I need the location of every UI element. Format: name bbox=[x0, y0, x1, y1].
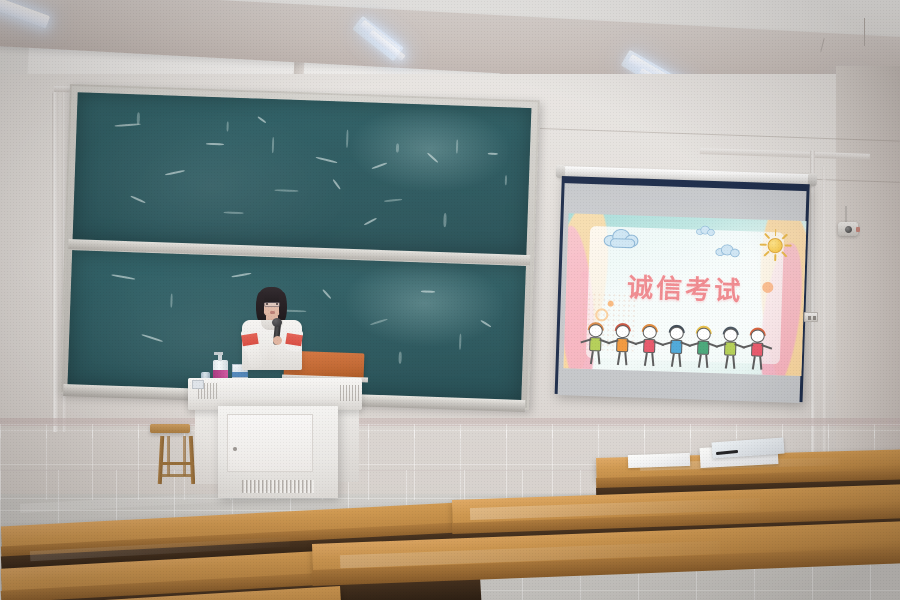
podium-door-lock-icon[interactable] bbox=[233, 447, 237, 451]
conduit-pipe bbox=[52, 92, 58, 432]
podium-speaker-grille bbox=[340, 385, 359, 401]
camera-lens-icon bbox=[845, 226, 852, 233]
sanitizer-nozzle bbox=[214, 352, 223, 355]
paper-sheet[interactable] bbox=[628, 453, 690, 468]
child-figure bbox=[638, 326, 661, 369]
classroom-photo: 诚信考试 bbox=[0, 0, 900, 600]
tissue-box-band bbox=[232, 372, 248, 377]
sun-icon bbox=[759, 230, 790, 261]
projected-slide: 诚信考试 bbox=[563, 213, 806, 376]
hanging-wire bbox=[864, 18, 865, 46]
podium-control-panel[interactable] bbox=[192, 380, 204, 389]
child-figure bbox=[611, 325, 634, 368]
projection-screen: 诚信考试 bbox=[554, 172, 813, 408]
camera-indicator bbox=[856, 227, 860, 232]
child-figure bbox=[692, 327, 715, 370]
children-holding-hands-illustration bbox=[584, 322, 785, 373]
screen-border: 诚信考试 bbox=[555, 176, 810, 402]
bench-row-front[interactable] bbox=[0, 556, 900, 600]
child-figure bbox=[719, 328, 742, 371]
child-figure bbox=[745, 329, 768, 372]
child-figure bbox=[665, 327, 688, 370]
slide-title: 诚信考试 bbox=[566, 265, 805, 310]
power-outlet-icon bbox=[804, 312, 818, 322]
chalkboard-upper-panel bbox=[73, 92, 532, 256]
child-figure bbox=[584, 324, 607, 367]
screen-fabric: 诚信考试 bbox=[558, 183, 807, 403]
